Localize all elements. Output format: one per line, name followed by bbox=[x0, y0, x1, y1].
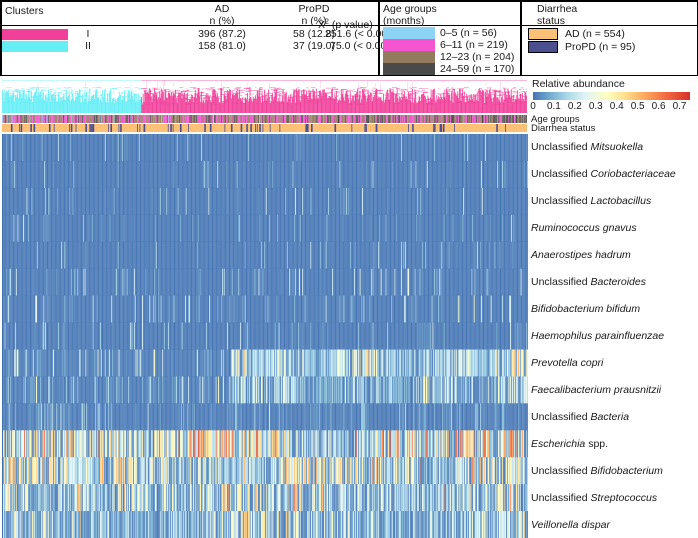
age-group-swatch-2 bbox=[383, 51, 435, 63]
taxon-label-5: Unclassified Bacteroides bbox=[531, 276, 646, 288]
diarrhea-header-line2: status bbox=[537, 15, 565, 27]
annotation-track-age-groups bbox=[2, 115, 527, 123]
colorbar-tick-labels: 00.10.20.30.40.50.60.7 bbox=[531, 101, 698, 113]
colorbar-tick-5: 0.5 bbox=[631, 101, 645, 112]
clusters-column-header: Clusters bbox=[5, 6, 44, 18]
age-group-label-0: 0–5 (n = 56) bbox=[440, 27, 497, 39]
diarrhea-status-swatch-0 bbox=[528, 28, 558, 40]
age-group-swatch-3 bbox=[383, 63, 435, 75]
sample-dendrogram bbox=[2, 79, 527, 113]
taxon-label-6: Bifidobacterium bifidum bbox=[531, 303, 640, 315]
age-groups-legend-header: Age groups(months) bbox=[383, 4, 437, 27]
age-group-swatch-0 bbox=[383, 27, 435, 39]
legend-table: Clusters ADn (%) ProPDn (%) X2 (p value)… bbox=[0, 0, 698, 76]
cluster-name-II: II bbox=[78, 41, 98, 52]
colorbar-title: Relative abundance bbox=[532, 79, 625, 90]
table-rule-divider-diarrhea bbox=[520, 0, 522, 76]
annotation-label-diarrhea-status: Diarrhea status bbox=[531, 124, 595, 133]
annotation-track-diarrhea-status bbox=[2, 124, 527, 132]
taxon-label-7: Haemophilus parainfluenzae bbox=[531, 330, 664, 342]
diarrhea-status-label-0: AD (n = 554) bbox=[565, 28, 625, 40]
taxon-label-12: Unclassified Bifidobacterium bbox=[531, 465, 663, 477]
cluster-swatch-I bbox=[2, 29, 68, 40]
colorbar-tick-0: 0 bbox=[530, 101, 536, 112]
colorbar-tick-1: 0.1 bbox=[547, 101, 561, 112]
ad-value-cluster-I: 396 (87.2) bbox=[198, 29, 246, 40]
taxon-label-2: Unclassified Lactobacillus bbox=[531, 195, 651, 207]
taxon-label-11: Escherichia spp. bbox=[531, 438, 608, 450]
cluster-name-I: I bbox=[78, 29, 98, 40]
age-header-line1: Age groups bbox=[383, 3, 437, 15]
colorbar-tick-3: 0.3 bbox=[589, 101, 603, 112]
heatmap-figure: Age groups Diarrhea status Unclassified … bbox=[0, 79, 698, 538]
taxon-label-10: Unclassified Bacteria bbox=[531, 411, 629, 423]
age-group-label-2: 12–23 (n = 204) bbox=[440, 51, 514, 63]
age-group-label-3: 24–59 (n = 170) bbox=[440, 63, 514, 75]
taxon-label-4: Anaerostipes hadrum bbox=[531, 249, 631, 261]
cluster-swatch-II bbox=[2, 41, 68, 52]
taxon-label-9: Faecalibacterium prausnitzii bbox=[531, 384, 661, 396]
diarrhea-status-legend-header: Diarrheastatus bbox=[537, 4, 577, 27]
taxon-label-1: Unclassified Coriobacteriaceae bbox=[531, 168, 676, 180]
colorbar-tick-6: 0.6 bbox=[652, 101, 666, 112]
taxon-label-3: Ruminococcus gnavus bbox=[531, 222, 637, 234]
colorbar-legend: Relative abundance 00.10.20.30.40.50.60.… bbox=[531, 79, 698, 115]
taxon-label-0: Unclassified Mitsuokella bbox=[531, 141, 643, 153]
colorbar-tick-2: 0.2 bbox=[568, 101, 582, 112]
propd-value-cluster-II: 37 (19.0) bbox=[293, 41, 335, 52]
ad-value-cluster-II: 158 (81.0) bbox=[198, 41, 246, 52]
ad-header-line1: AD bbox=[215, 3, 230, 15]
age-group-swatch-1 bbox=[383, 39, 435, 51]
colorbar-tick-4: 0.4 bbox=[610, 101, 624, 112]
colorbar-gradient bbox=[533, 92, 690, 100]
table-rule-top bbox=[0, 0, 698, 2]
diarrhea-header-line1: Diarrhea bbox=[537, 3, 577, 15]
age-group-label-1: 6–11 (n = 219) bbox=[440, 39, 508, 51]
age-header-line2: (months) bbox=[383, 15, 424, 27]
colorbar-tick-7: 0.7 bbox=[673, 101, 687, 112]
taxon-label-13: Unclassified Streptococcus bbox=[531, 492, 657, 504]
diarrhea-status-swatch-1 bbox=[528, 41, 558, 53]
propd-header-line1: ProPD bbox=[299, 3, 330, 15]
table-rule-bottom bbox=[0, 75, 698, 77]
taxa-label-list: Unclassified MitsuokellaUnclassified Cor… bbox=[531, 134, 698, 538]
ad-header-line2: n (%) bbox=[209, 15, 234, 27]
taxon-label-8: Prevotella copri bbox=[531, 357, 603, 369]
ad-column-header: ADn (%) bbox=[209, 4, 234, 27]
diarrhea-status-label-1: ProPD (n = 95) bbox=[565, 41, 635, 53]
taxon-label-14: Veillonella dispar bbox=[531, 519, 610, 531]
heatmap-body bbox=[2, 134, 528, 538]
